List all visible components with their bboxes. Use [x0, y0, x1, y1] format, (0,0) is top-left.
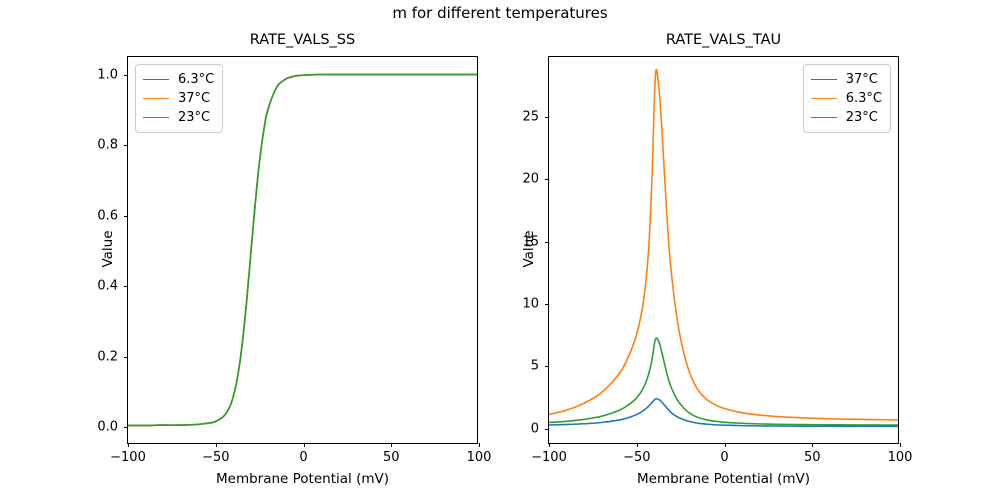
y-tick	[545, 117, 549, 118]
y-tick-label: 25	[522, 109, 539, 124]
ylabel-left: Value	[100, 189, 116, 309]
x-tick	[479, 443, 480, 447]
y-tick-label: 0.2	[97, 349, 118, 364]
y-tick	[545, 242, 549, 243]
axes-rate-vals-tau: RATE_VALS_TAU −100−500501000510152025 Me…	[548, 56, 899, 444]
legend-line-swatch	[811, 117, 837, 118]
x-tick-label: 100	[888, 450, 913, 465]
y-tick	[124, 75, 128, 76]
ylabel-right: Value	[521, 189, 537, 309]
axes-rate-vals-ss: RATE_VALS_SS −100−500501000.00.20.40.60.…	[127, 56, 478, 444]
x-tick-label: −100	[531, 450, 567, 465]
x-tick-label: −50	[623, 450, 650, 465]
figure-suptitle: m for different temperatures	[0, 4, 1000, 22]
x-tick	[304, 443, 305, 447]
legend-item[interactable]: 37°C	[811, 70, 882, 89]
x-tick-label: −100	[110, 450, 146, 465]
y-tick-label: 0.8	[97, 138, 118, 153]
legend-label: 23°C	[846, 110, 878, 125]
legend-item[interactable]: 37°C	[143, 89, 214, 108]
legend-label: 23°C	[178, 110, 210, 125]
legend-item[interactable]: 23°C	[143, 108, 214, 127]
legend-line-swatch	[811, 79, 837, 80]
y-tick	[124, 216, 128, 217]
x-tick	[900, 443, 901, 447]
legend-line-swatch	[143, 79, 169, 80]
axes-title-left: RATE_VALS_SS	[128, 32, 477, 48]
legend-item[interactable]: 23°C	[811, 108, 882, 127]
x-tick	[637, 443, 638, 447]
legend-label: 6.3°C	[178, 72, 214, 87]
xlabel-right: Membrane Potential (mV)	[549, 471, 898, 487]
x-tick-label: 100	[467, 450, 492, 465]
x-tick-label: 50	[383, 450, 400, 465]
matplotlib-figure: m for different temperatures RATE_VALS_S…	[0, 0, 1000, 500]
y-tick	[545, 304, 549, 305]
x-tick	[725, 443, 726, 447]
y-tick	[124, 286, 128, 287]
x-tick	[812, 443, 813, 447]
y-tick	[124, 357, 128, 358]
x-tick-label: 0	[299, 450, 307, 465]
y-tick-label: 0	[531, 421, 539, 436]
y-tick	[124, 145, 128, 146]
xlabel-left: Membrane Potential (mV)	[128, 471, 477, 487]
y-tick	[545, 366, 549, 367]
legend-item[interactable]: 6.3°C	[811, 89, 882, 108]
series-line	[549, 338, 898, 425]
y-tick	[545, 429, 549, 430]
legend-line-swatch	[143, 98, 169, 99]
x-tick-label: 50	[804, 450, 821, 465]
x-tick	[391, 443, 392, 447]
x-tick	[549, 443, 550, 447]
y-tick-label: 20	[522, 172, 539, 187]
legend-line-swatch	[811, 98, 837, 99]
legend-label: 37°C	[178, 91, 210, 106]
y-tick	[124, 427, 128, 428]
axes-title-right: RATE_VALS_TAU	[549, 32, 898, 48]
y-tick-label: 1.0	[97, 67, 118, 82]
legend-label: 37°C	[846, 72, 878, 87]
legend-label: 6.3°C	[846, 91, 882, 106]
legend-right[interactable]: 37°C6.3°C23°C	[803, 64, 891, 133]
legend-left[interactable]: 6.3°C37°C23°C	[135, 64, 223, 133]
x-tick-label: −50	[202, 450, 229, 465]
x-tick-label: 0	[720, 450, 728, 465]
x-tick	[216, 443, 217, 447]
legend-line-swatch	[143, 117, 169, 118]
legend-item[interactable]: 6.3°C	[143, 70, 214, 89]
y-tick	[545, 179, 549, 180]
y-tick-label: 5	[531, 359, 539, 374]
y-tick-label: 0.0	[97, 420, 118, 435]
x-tick	[128, 443, 129, 447]
